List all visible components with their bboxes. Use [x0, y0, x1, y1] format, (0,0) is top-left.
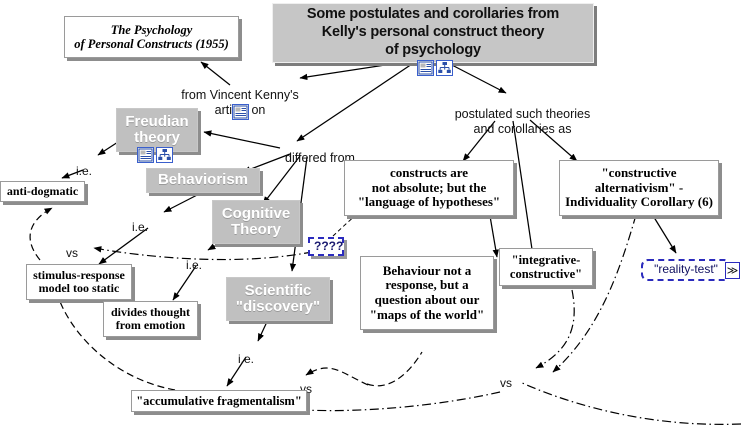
node-stimulus-response[interactable]: stimulus-response model too static	[26, 264, 132, 300]
node-freudian-theory-label: Freudian theory	[121, 114, 193, 147]
node-accumulative-fragmentalism-label: "accumulative fragmentalism"	[136, 394, 302, 408]
title-node-icons[interactable]	[417, 60, 453, 76]
reference-node[interactable]: The Psychology of Personal Constructs (1…	[64, 16, 239, 58]
freudian-node-icons[interactable]	[137, 147, 173, 163]
node-constructive-alternativism-label: "constructive alternativism" - Individua…	[564, 166, 714, 210]
expand-icon[interactable]: ≫	[725, 262, 740, 279]
node-constructive-alternativism[interactable]: "constructive alternativism" - Individua…	[559, 160, 719, 216]
concept-tree-icon[interactable]	[436, 60, 453, 76]
node-behaviour-not-a-response-label: Behaviour not a response, but a question…	[365, 264, 489, 322]
phrase-ie-1-label: i.e.	[76, 164, 92, 178]
phrase-vs-1: vs	[60, 232, 84, 260]
node-cognitive-theory[interactable]: Cognitive Theory	[212, 200, 300, 244]
phrase-ie-1: i.e.	[70, 150, 98, 178]
node-constructs-are[interactable]: constructs are not absolute; but the "la…	[344, 160, 514, 216]
node-reality-test[interactable]: "reality-test"	[641, 259, 731, 281]
concept-map-canvas: Some postulates and corollaries from Kel…	[0, 0, 741, 427]
note-icon[interactable]	[417, 60, 434, 76]
phrase-ie-3-label: i.e.	[186, 258, 202, 272]
node-unknown-placeholder-label: ????	[314, 240, 338, 253]
node-integrative-constructive-label: "integrative- constructive"	[504, 253, 588, 281]
node-cognitive-theory-label: Cognitive Theory	[217, 206, 295, 239]
phrase-ie-4-label: i.e.	[238, 352, 254, 366]
reference-label: The Psychology of Personal Constructs (1…	[69, 23, 234, 51]
node-stimulus-response-label: stimulus-response model too static	[31, 269, 127, 296]
node-anti-dogmatic[interactable]: anti-dogmatic	[0, 181, 85, 202]
phrase-vs-3: vs	[494, 362, 518, 390]
phrase-postulated-label: postulated such theories and corollaries…	[455, 107, 591, 136]
phrase-postulated-such-theories: postulated such theories and corollaries…	[440, 92, 605, 136]
node-anti-dogmatic-label: anti-dogmatic	[5, 185, 80, 198]
node-divides-thought-label: divides thought from emotion	[108, 306, 193, 333]
node-behaviour-not-a-response[interactable]: Behaviour not a response, but a question…	[360, 256, 494, 330]
node-scientific-discovery[interactable]: Scientific "discovery"	[226, 277, 330, 321]
node-constructs-are-label: constructs are not absolute; but the "la…	[349, 166, 509, 210]
node-unknown-placeholder[interactable]: ????	[308, 237, 344, 256]
note-icon[interactable]	[232, 104, 249, 120]
phrase-ie-3: i.e.	[180, 244, 208, 272]
phrase-ie-2-label: i.e.	[132, 220, 148, 234]
node-behaviorism-label: Behaviorism	[151, 172, 255, 189]
phrase-ie-4: i.e.	[232, 338, 260, 366]
map-title-node[interactable]: Some postulates and corollaries from Kel…	[272, 3, 594, 63]
node-freudian-theory[interactable]: Freudian theory	[116, 108, 198, 152]
node-divides-thought[interactable]: divides thought from emotion	[103, 301, 198, 337]
node-accumulative-fragmentalism[interactable]: "accumulative fragmentalism"	[131, 390, 307, 412]
node-integrative-constructive[interactable]: "integrative- constructive"	[499, 248, 593, 286]
concept-tree-icon[interactable]	[156, 147, 173, 163]
node-scientific-discovery-label: Scientific "discovery"	[231, 283, 325, 316]
phrase-ie-2: i.e.	[126, 206, 154, 234]
node-behaviorism[interactable]: Behaviorism	[146, 168, 260, 193]
phrase-vs-1-label: vs	[66, 246, 78, 260]
node-reality-test-label: "reality-test"	[654, 263, 718, 276]
map-title-label: Some postulates and corollaries from Kel…	[273, 6, 593, 59]
phrase-vs-3-label: vs	[500, 376, 512, 390]
note-icon[interactable]	[137, 147, 154, 163]
vincent-note-icons[interactable]	[232, 104, 249, 120]
